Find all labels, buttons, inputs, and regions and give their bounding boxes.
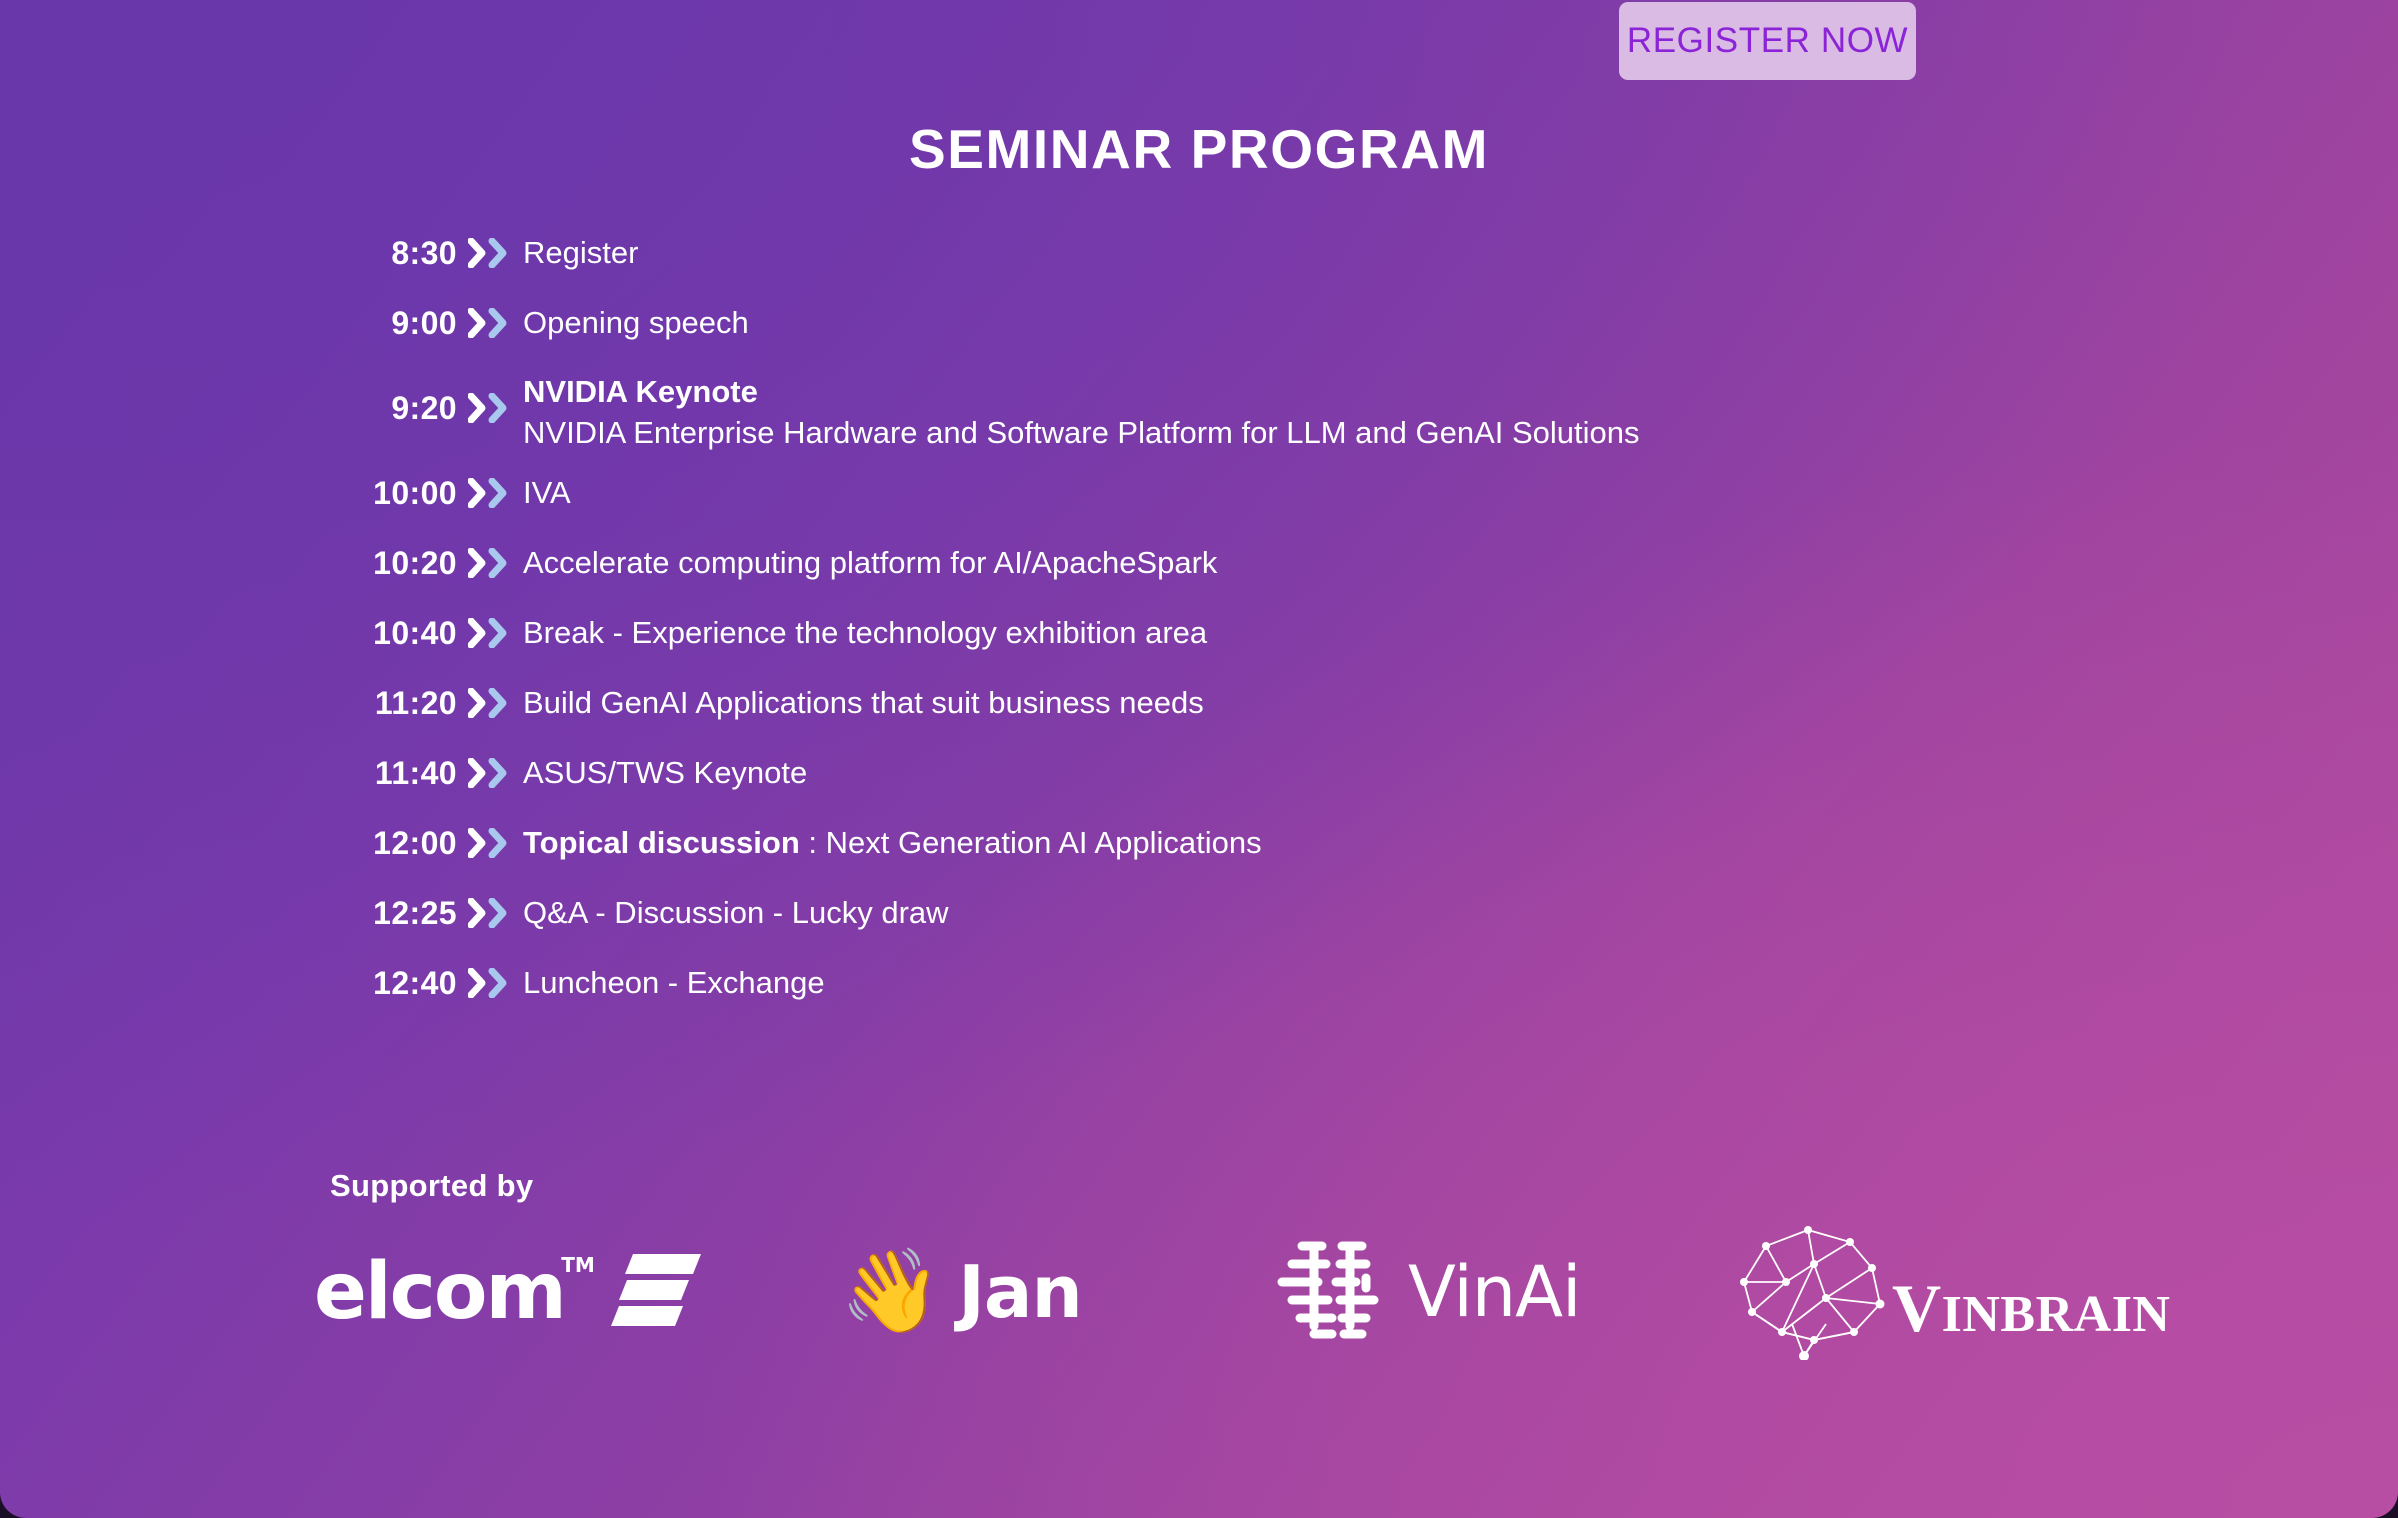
elcom-tm-mark: TM xyxy=(561,1253,595,1277)
sponsor-logos: elcom TM 👋 Jan xyxy=(300,1222,2200,1362)
agenda-time: 12:25 xyxy=(330,878,457,948)
agenda-row: 9:20 NVIDIA Keynote NVIDIA Enterprise Ha… xyxy=(330,358,2130,458)
agenda-text: Opening speech xyxy=(523,288,749,358)
agenda-row: 10:00 IVA xyxy=(330,458,2130,528)
agenda-text: Register xyxy=(523,218,638,288)
elcom-wordmark: elcom TM xyxy=(314,1247,565,1337)
agenda-row: 11:40 ASUS/TWS Keynote xyxy=(330,738,2130,808)
agenda-text: IVA xyxy=(523,458,571,528)
agenda-time: 12:00 xyxy=(330,808,457,878)
vinbrain-wordmark: VINBRAIN xyxy=(1892,1269,2170,1348)
agenda-text-rest: : Next Generation AI Applications xyxy=(800,825,1262,860)
agenda-text: Topical discussion : Next Generation AI … xyxy=(523,808,1262,878)
agenda-text: Accelerate computing platform for AI/Apa… xyxy=(523,528,1217,598)
agenda-text: Build GenAI Applications that suit busin… xyxy=(523,668,1204,738)
double-chevron-right-icon xyxy=(457,458,523,528)
double-chevron-right-icon xyxy=(457,598,523,668)
double-chevron-right-icon xyxy=(457,948,523,1018)
double-chevron-right-icon xyxy=(457,808,523,878)
agenda-time: 10:00 xyxy=(330,458,457,528)
agenda-time: 12:40 xyxy=(330,948,457,1018)
agenda-text-bold-prefix: Topical discussion xyxy=(523,825,800,860)
agenda-row: 8:30 Register xyxy=(330,218,2130,288)
double-chevron-right-icon xyxy=(457,878,523,948)
agenda-row: 12:00 Topical discussion : Next Generati… xyxy=(330,808,2130,878)
agenda-text: Q&A - Discussion - Lucky draw xyxy=(523,878,949,948)
agenda-time: 10:20 xyxy=(330,528,457,598)
jan-wordmark: Jan xyxy=(958,1250,1082,1334)
agenda-row: 12:40 Luncheon - Exchange xyxy=(330,948,2130,1018)
slanted-e-mark-icon xyxy=(607,1250,703,1335)
agenda-time: 10:40 xyxy=(330,598,457,668)
agenda-time: 11:40 xyxy=(330,738,457,808)
agenda-time: 11:20 xyxy=(330,668,457,738)
agenda-time: 9:20 xyxy=(330,358,457,458)
agenda-time: 8:30 xyxy=(330,218,457,288)
double-chevron-right-icon xyxy=(457,738,523,808)
circuit-mark-icon xyxy=(1270,1234,1388,1351)
agenda-row: 12:25 Q&A - Discussion - Lucky draw xyxy=(330,878,2130,948)
sponsor-logo-elcom: elcom TM xyxy=(314,1222,703,1362)
agenda-row: 9:00 Opening speech xyxy=(330,288,2130,358)
agenda-row: 10:40 Break - Experience the technology … xyxy=(330,598,2130,668)
sponsor-logo-vinbrain: VINBRAIN xyxy=(1730,1222,2170,1362)
vinbrain-initial: V xyxy=(1892,1270,1942,1346)
double-chevron-right-icon xyxy=(457,358,523,458)
page-title: SEMINAR PROGRAM xyxy=(0,117,2398,181)
agenda-text-title: NVIDIA Keynote xyxy=(523,372,1640,413)
polygon-brain-mark-icon xyxy=(1730,1220,1910,1365)
agenda-text: Luncheon - Exchange xyxy=(523,948,825,1018)
vinbrain-rest: INBRAIN xyxy=(1942,1286,2171,1343)
seminar-program-slide: REGISTER NOW SEMINAR PROGRAM 8:30 Regist… xyxy=(0,0,2398,1518)
agenda-list: 8:30 Register 9:00 Opening speech 9:20 N… xyxy=(330,218,2130,1018)
agenda-text: Break - Experience the technology exhibi… xyxy=(523,598,1207,668)
vinai-wordmark: VinAi xyxy=(1408,1251,1581,1333)
sponsor-logo-vinai: VinAi xyxy=(1270,1222,1581,1362)
waving-hand-icon: 👋 xyxy=(840,1251,942,1333)
agenda-row: 11:20 Build GenAI Applications that suit… xyxy=(330,668,2130,738)
agenda-text: NVIDIA Keynote NVIDIA Enterprise Hardwar… xyxy=(523,358,1640,454)
double-chevron-right-icon xyxy=(457,218,523,288)
agenda-time: 9:00 xyxy=(330,288,457,358)
double-chevron-right-icon xyxy=(457,288,523,358)
sponsor-logo-jan: 👋 Jan xyxy=(840,1222,1082,1362)
agenda-text: ASUS/TWS Keynote xyxy=(523,738,807,808)
double-chevron-right-icon xyxy=(457,528,523,598)
agenda-row: 10:20 Accelerate computing platform for … xyxy=(330,528,2130,598)
register-now-button[interactable]: REGISTER NOW xyxy=(1619,2,1916,80)
elcom-word-text: elcom xyxy=(314,1247,565,1337)
double-chevron-right-icon xyxy=(457,668,523,738)
supported-by-label: Supported by xyxy=(330,1168,533,1204)
agenda-text-subtitle: NVIDIA Enterprise Hardware and Software … xyxy=(523,413,1640,454)
